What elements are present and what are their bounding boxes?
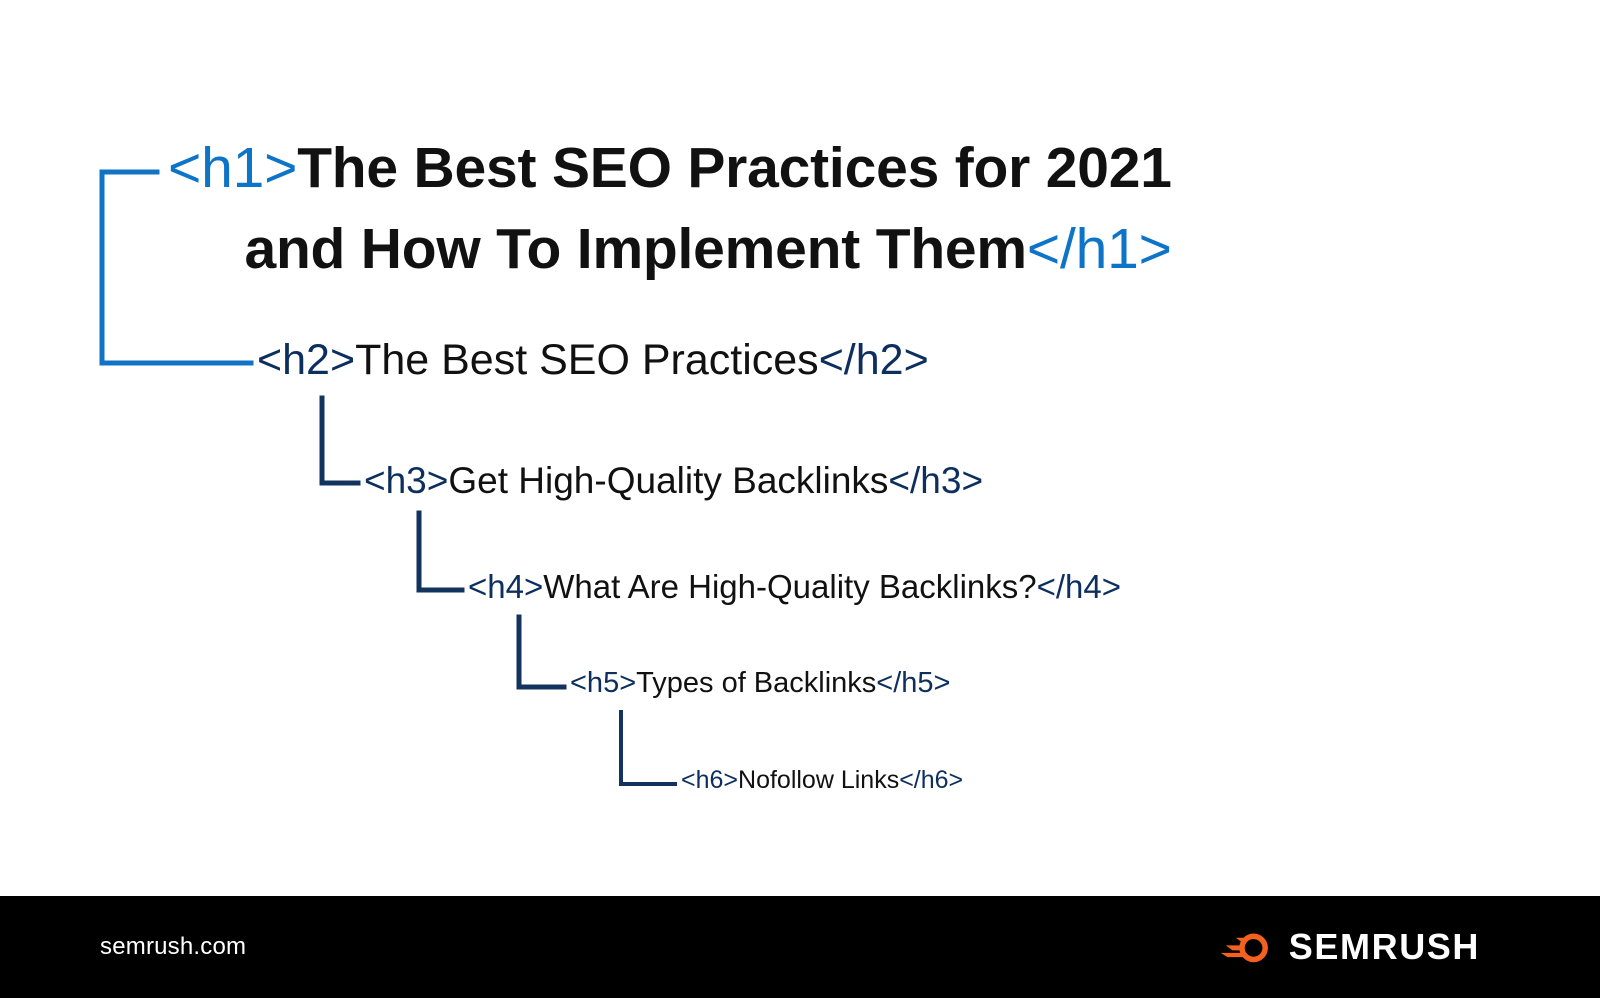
tag-close-h1: </h1> <box>1027 217 1172 281</box>
heading-node-h5: <h5>Types of Backlinks</h5> <box>570 667 950 700</box>
semrush-comet-icon <box>1219 927 1273 967</box>
heading-node-h6: <h6>Nofollow Links</h6> <box>681 766 963 795</box>
heading-node-h4: <h4>What Are High-Quality Backlinks?</h4… <box>468 568 1121 606</box>
heading-node-h2: <h2>The Best SEO Practices</h2> <box>257 336 929 385</box>
infographic-canvas: <h1>The Best SEO Practices for 2021 and … <box>0 0 1600 998</box>
heading-text-h1-line2: and How To Implement Them <box>244 217 1026 281</box>
heading-text-h3: Get High-Quality Backlinks <box>448 460 888 501</box>
tag-close-h6: </h6> <box>899 766 963 794</box>
brand-wordmark: SEMRUSH <box>1289 926 1480 968</box>
heading-text-h1-line1: The Best SEO Practices for 2021 <box>297 136 1172 200</box>
tag-close-h5: </h5> <box>876 667 950 699</box>
brand-lockup: SEMRUSH <box>1219 926 1480 968</box>
connector-h3-h4 <box>419 513 462 590</box>
heading-hierarchy-diagram: <h1>The Best SEO Practices for 2021 and … <box>0 0 1600 896</box>
connector-h5-h6 <box>621 712 675 784</box>
tag-open-h5: <h5> <box>570 667 636 699</box>
heading-text-h1-line2-wrap: and How To Implement Them</h1> <box>168 217 1172 282</box>
tag-close-h4: </h4> <box>1037 568 1121 605</box>
tag-open-h2: <h2> <box>257 336 355 384</box>
footer-url: semrush.com <box>100 933 246 961</box>
tag-open-h1: <h1> <box>168 136 297 200</box>
tag-close-h3: </h3> <box>888 460 983 501</box>
heading-text-h5: Types of Backlinks <box>636 667 876 699</box>
heading-node-h1: <h1>The Best SEO Practices for 2021 and … <box>168 136 1172 282</box>
tag-close-h2: </h2> <box>819 336 929 384</box>
tag-open-h4: <h4> <box>468 568 543 605</box>
footer-bar: semrush.com SEMRUSH <box>0 896 1600 998</box>
connector-h2-h3 <box>322 398 358 483</box>
tag-open-h3: <h3> <box>364 460 448 501</box>
connector-h4-h5 <box>519 617 564 687</box>
heading-node-h3: <h3>Get High-Quality Backlinks</h3> <box>364 460 983 502</box>
heading-text-h2: The Best SEO Practices <box>355 336 819 384</box>
connector-lines <box>0 0 1600 896</box>
tag-open-h6: <h6> <box>681 766 738 794</box>
heading-text-h4: What Are High-Quality Backlinks? <box>543 568 1036 605</box>
heading-text-h6: Nofollow Links <box>738 766 899 794</box>
